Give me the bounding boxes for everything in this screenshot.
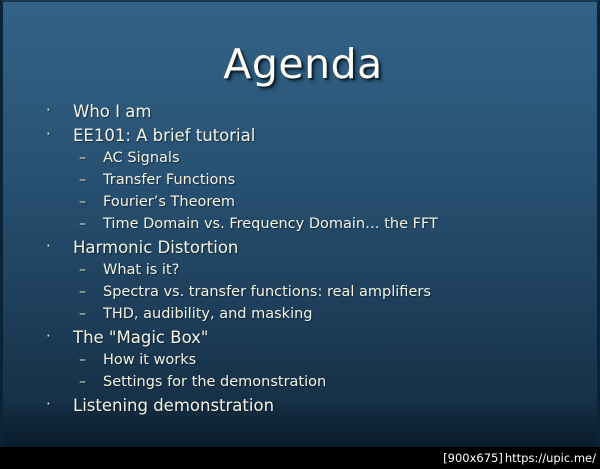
bullet-item: –AC Signals xyxy=(3,150,600,172)
bullet-dash-icon: – xyxy=(79,195,103,209)
bullet-item-label: How it works xyxy=(103,352,196,368)
bullet-item: –What is it? xyxy=(3,262,600,284)
bullet-item: –How it works xyxy=(3,352,600,374)
bullet-dot-icon: · xyxy=(46,397,73,412)
bullet-item: –Spectra vs. transfer functions: real am… xyxy=(3,284,600,306)
bullet-dot-icon: · xyxy=(46,239,73,254)
bullet-item-label: Fourier’s Theorem xyxy=(103,194,235,210)
bullet-item: ·Listening demonstration xyxy=(3,396,600,420)
agenda-bullet-list: ·Who I am·EE101: A brief tutorial–AC Sig… xyxy=(3,102,600,420)
bullet-dash-icon: – xyxy=(79,173,103,187)
image-host-status-bar: [900x675] https://upic.me/ xyxy=(0,447,600,469)
bullet-item-label: AC Signals xyxy=(103,150,180,166)
bullet-dash-icon: – xyxy=(79,375,103,389)
bullet-item-label: Time Domain vs. Frequency Domain… the FF… xyxy=(103,216,438,232)
bullet-dash-icon: – xyxy=(79,217,103,231)
bullet-item: ·Who I am xyxy=(3,102,600,126)
screenshot-root: Agenda ·Who I am·EE101: A brief tutorial… xyxy=(0,0,600,469)
bullet-item: –Transfer Functions xyxy=(3,172,600,194)
page-title: Agenda xyxy=(3,40,600,88)
bullet-item-label: Harmonic Distortion xyxy=(73,238,238,257)
bullet-item-label: Settings for the demonstration xyxy=(103,374,326,390)
bullet-dash-icon: – xyxy=(79,151,103,165)
bullet-dash-icon: – xyxy=(79,263,103,277)
bullet-item: –Time Domain vs. Frequency Domain… the F… xyxy=(3,216,600,238)
bullet-item-label: EE101: A brief tutorial xyxy=(73,126,255,145)
bullet-item: ·EE101: A brief tutorial xyxy=(3,126,600,150)
bullet-dash-icon: – xyxy=(79,307,103,321)
bullet-dash-icon: – xyxy=(79,285,103,299)
image-dimensions-label: [900x675] xyxy=(443,451,503,465)
bullet-item-label: Spectra vs. transfer functions: real amp… xyxy=(103,284,431,300)
bullet-item: –THD, audibility, and masking xyxy=(3,306,600,328)
bullet-item-label: THD, audibility, and masking xyxy=(103,306,313,322)
bullet-item: –Settings for the demonstration xyxy=(3,374,600,396)
bullet-dot-icon: · xyxy=(46,127,73,142)
bullet-item-label: What is it? xyxy=(103,262,179,278)
bullet-item-label: Who I am xyxy=(73,102,151,121)
bullet-item: –Fourier’s Theorem xyxy=(3,194,600,216)
bullet-item: ·Harmonic Distortion xyxy=(3,238,600,262)
image-host-url: https://upic.me/ xyxy=(505,451,596,465)
bullet-item-label: The "Magic Box" xyxy=(73,328,209,347)
bullet-item-label: Transfer Functions xyxy=(103,172,235,188)
bullet-item: ·The "Magic Box" xyxy=(3,328,600,352)
bullet-dash-icon: – xyxy=(79,353,103,367)
bullet-item-label: Listening demonstration xyxy=(73,396,274,415)
bullet-dot-icon: · xyxy=(46,103,73,118)
bullet-dot-icon: · xyxy=(46,329,73,344)
presentation-slide: Agenda ·Who I am·EE101: A brief tutorial… xyxy=(0,0,600,447)
